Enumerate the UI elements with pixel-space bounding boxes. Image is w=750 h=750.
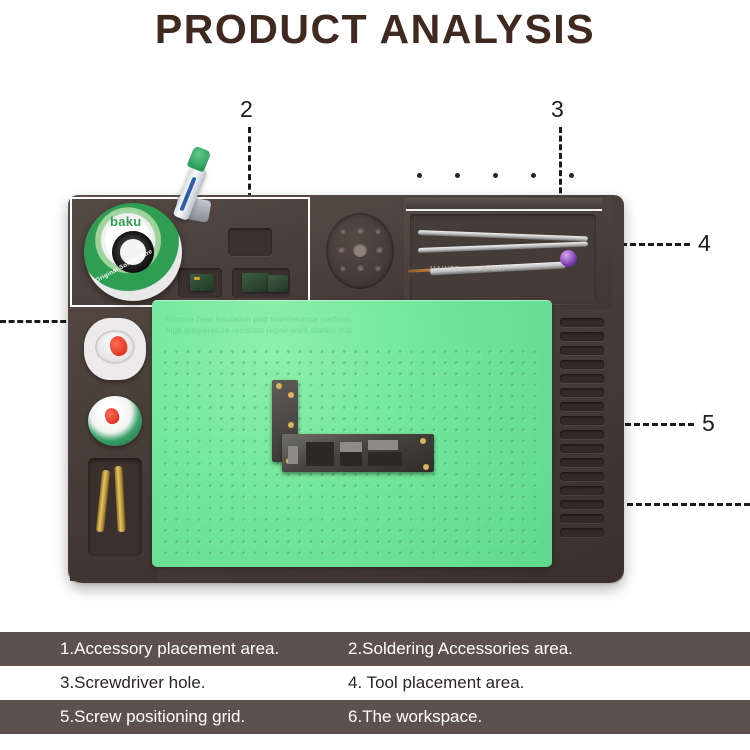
motherboard-ic	[368, 452, 402, 466]
legend-item-6: 6.The workspace.	[330, 707, 690, 727]
legend-item-4: 4. Tool placement area.	[330, 673, 690, 693]
legend-row: 1.Accessory placement area. 2.Soldering …	[0, 632, 750, 666]
motherboard-connector	[288, 446, 298, 464]
mat-vent-rib	[560, 388, 604, 397]
mat-vent-rib	[560, 374, 604, 383]
motherboard-pad	[420, 438, 426, 444]
motherboard-pad	[423, 464, 429, 470]
legend-item-5: 5.Screw positioning grid.	[0, 707, 330, 727]
mat-vent-rib	[560, 430, 604, 439]
screwdriver-hole-dot	[338, 246, 345, 253]
green-mat-emboss-line2: high temperature resistant repair work s…	[166, 325, 466, 336]
tool-rail	[406, 198, 602, 211]
mat-brand-text: MAINTENANCE MAT	[430, 266, 506, 273]
motherboard-pad	[288, 392, 294, 398]
page-title: PRODUCT ANALYSIS	[0, 6, 750, 53]
mat-vent-rib	[560, 332, 604, 341]
accessory-slot	[228, 228, 272, 256]
green-mat-emboss: silicone heat insulation pad maintenance…	[166, 314, 466, 336]
mat-vent-rib	[560, 318, 604, 327]
legend-item-2: 2.Soldering Accessories area.	[330, 639, 690, 659]
mat-vent-rib	[560, 402, 604, 411]
green-mat-emboss-line1: silicone heat insulation pad maintenance…	[166, 314, 466, 325]
mat-vent-rib	[560, 416, 604, 425]
spool-brand-label: baku	[110, 214, 142, 229]
legend-item-3: 3.Screwdriver hole.	[0, 673, 330, 693]
screwdriver-hole-dot	[357, 264, 364, 271]
rail-screw	[455, 173, 460, 178]
callout-number-3: 3	[551, 96, 564, 123]
legend-item-1: 1.Accessory placement area.	[0, 639, 330, 659]
chip-component	[242, 273, 270, 292]
motherboard-ic	[368, 440, 398, 450]
motherboard-pad	[276, 383, 282, 389]
rail-screw	[569, 173, 574, 178]
screwdriver-hole-dot	[340, 228, 346, 234]
screwdriver-hole-dot	[375, 228, 381, 234]
screwdriver-hole-dot	[376, 246, 383, 253]
screwdriver-knob	[560, 250, 577, 267]
mat-vent-rib	[560, 360, 604, 369]
product-photo: baku Original Solder Wire MAINTENANCE MA…	[0, 170, 750, 600]
mat-vent-rib	[560, 500, 604, 509]
mat-vent-rib	[560, 486, 604, 495]
motherboard-pad	[288, 422, 294, 428]
mat-vent-rib	[560, 444, 604, 453]
legend-row: 5.Screw positioning grid. 6.The workspac…	[0, 700, 750, 734]
screwdriver-hole-dot	[357, 227, 364, 234]
screwdriver-hole-dot	[375, 265, 381, 271]
motherboard-ic	[340, 452, 362, 466]
chip-pad	[194, 277, 200, 280]
mat-vent-rib	[560, 346, 604, 355]
mat-vent-rib	[560, 472, 604, 481]
rail-screw	[531, 173, 536, 178]
mat-vent-rib	[560, 514, 604, 523]
mat-vent-rib	[560, 458, 604, 467]
motherboard-ic	[306, 442, 334, 466]
screwdriver-hole-center	[353, 243, 367, 257]
callout-number-2: 2	[240, 96, 253, 123]
mat-vent-rib	[560, 528, 604, 537]
rail-screw	[493, 173, 498, 178]
screwdriver-hole-dot	[340, 265, 346, 271]
legend: 1.Accessory placement area. 2.Soldering …	[0, 632, 750, 734]
chip-component	[268, 275, 288, 292]
legend-row: 3.Screwdriver hole. 4. Tool placement ar…	[0, 666, 750, 700]
rail-screw	[417, 173, 422, 178]
